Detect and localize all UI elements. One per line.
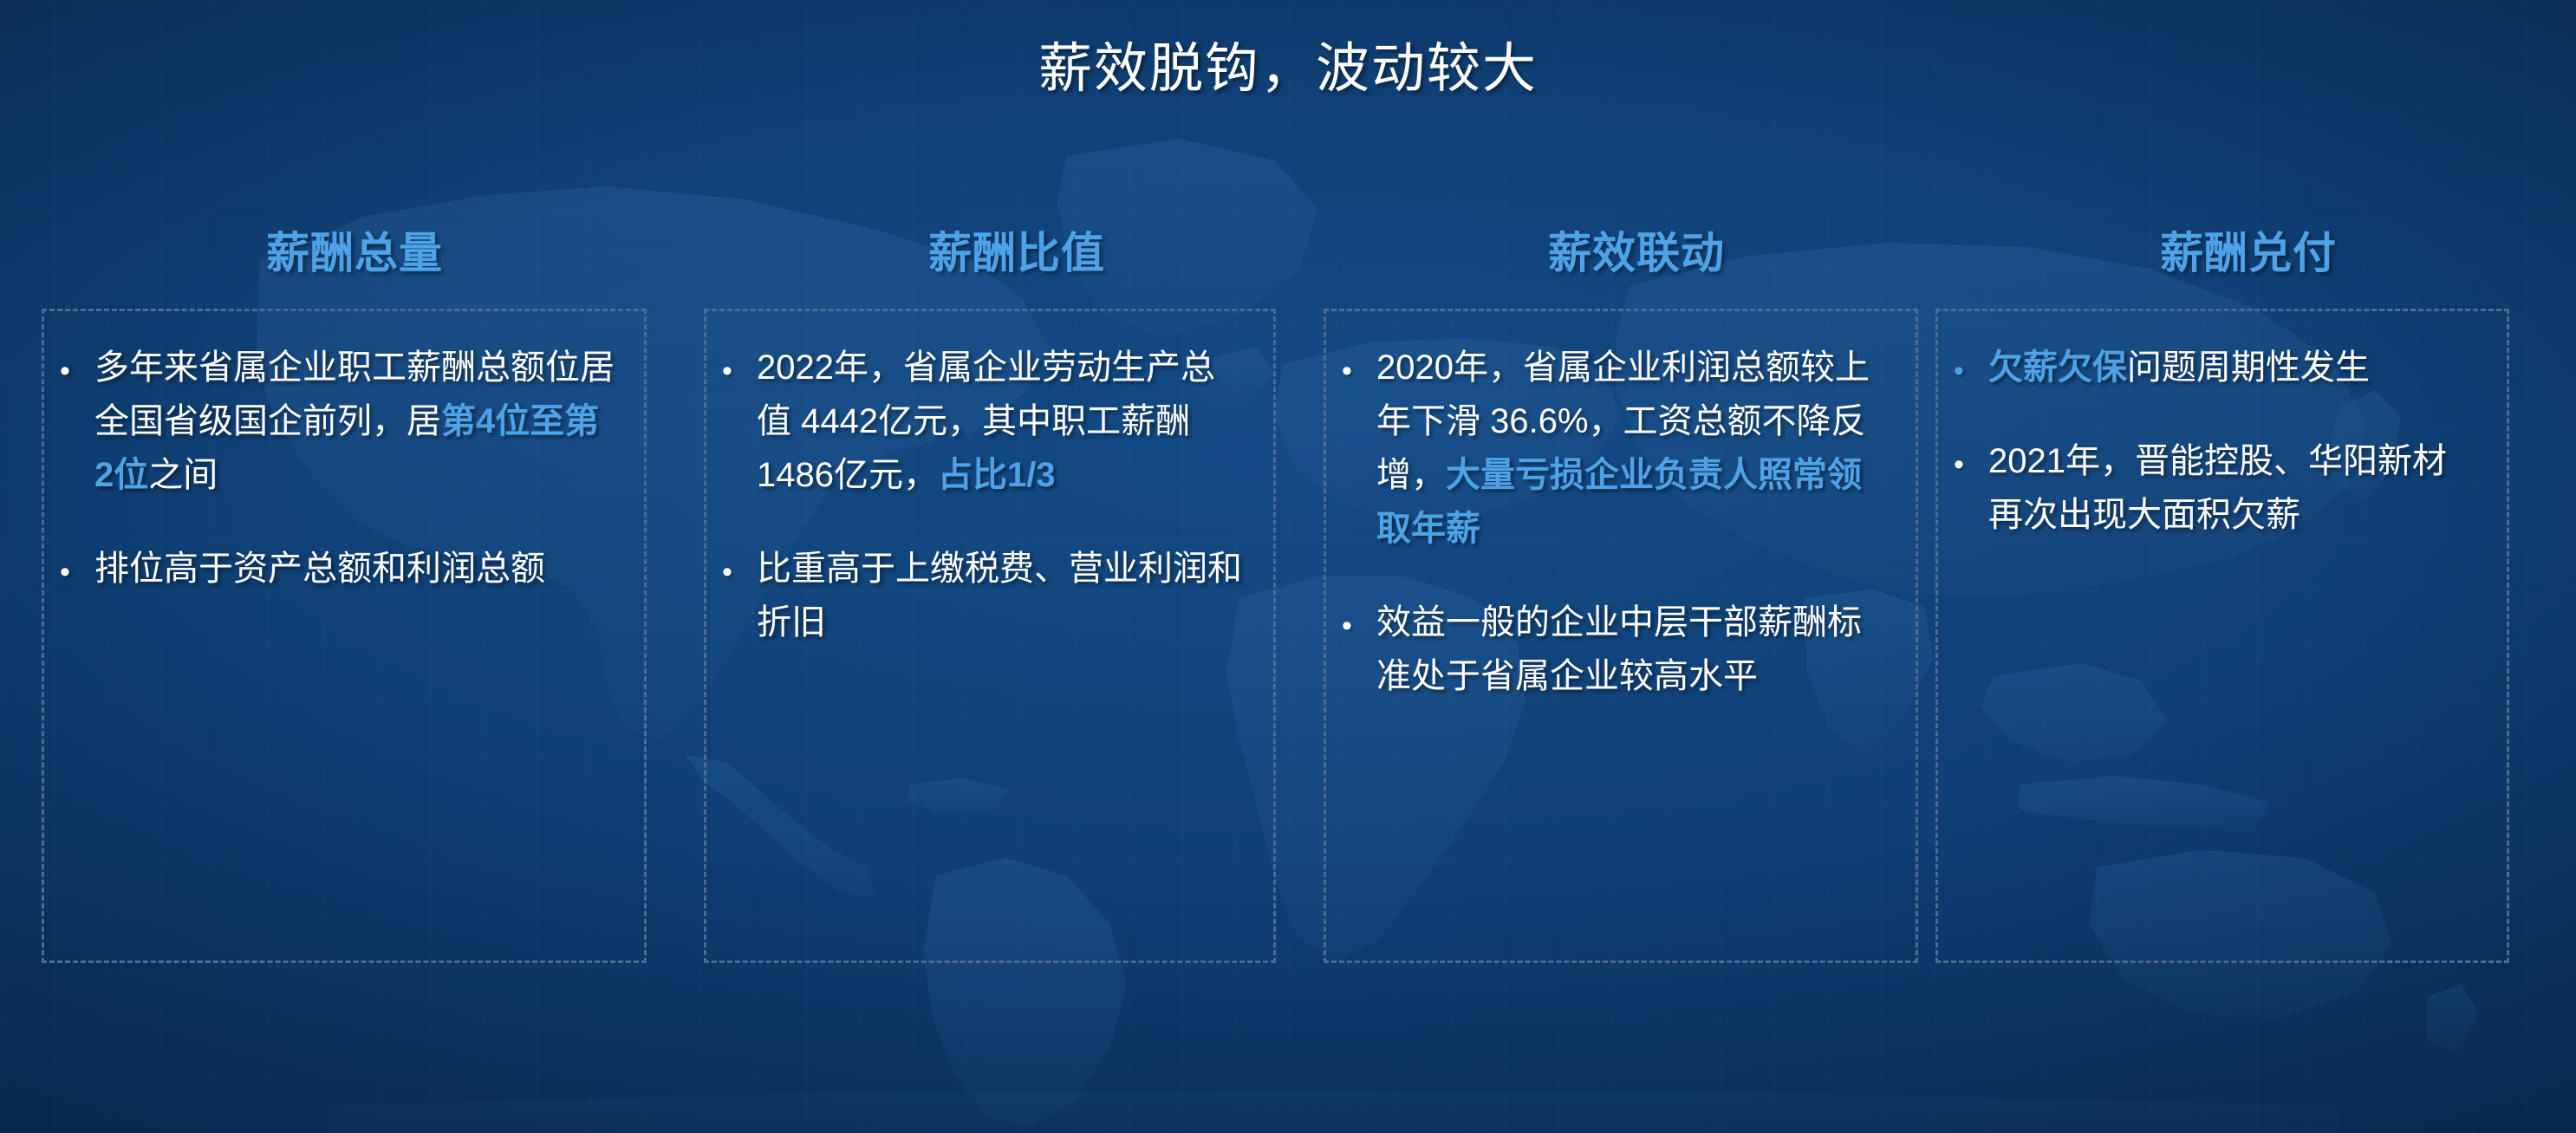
column-content-box: • 多年来省属企业职工薪酬总额位居全国省级国企前列，居第4位至第2位之间 • 排… xyxy=(42,309,647,963)
list-item-text: 比重高于上缴税费、营业利润和折旧 xyxy=(757,542,1247,649)
list-item: • 2021年，晋能控股、华阳新材再次出现大面积欠薪 xyxy=(1954,434,2481,542)
list-item-text: 多年来省属企业职工薪酬总额位居全国省级国企前列，居第4位至第2位之间 xyxy=(94,341,618,502)
bullet-icon: • xyxy=(60,341,94,386)
column-pay-performance-link: 薪效联动 • 2020年，省属企业利润总额较上年下滑 36.6%，工资总额不降反… xyxy=(1324,217,1949,963)
list-item: • 2022年，省属企业劳动生产总值 4442亿元，其中职工薪酬1486亿元，占… xyxy=(722,341,1247,502)
list-item-text: 2022年，省属企业劳动生产总值 4442亿元，其中职工薪酬1486亿元，占比1… xyxy=(757,341,1247,502)
list-item: • 2020年，省属企业利润总额较上年下滑 36.6%，工资总额不降反增，大量亏… xyxy=(1342,341,1890,556)
bullet-icon: • xyxy=(1342,341,1376,386)
list-item: • 多年来省属企业职工薪酬总额位居全国省级国企前列，居第4位至第2位之间 xyxy=(60,341,618,502)
bullet-icon: • xyxy=(1954,434,1988,479)
text-segment: 效益一般的企业中层干部薪酬标准处于省属企业较高水平 xyxy=(1376,603,1862,695)
column-content-box: • 欠薪欠保问题周期性发生 • 2021年，晋能控股、华阳新材再次出现大面积欠薪 xyxy=(1935,309,2509,963)
list-item: • 欠薪欠保问题周期性发生 xyxy=(1954,341,2481,394)
column-content-box: • 2020年，省属企业利润总额较上年下滑 36.6%，工资总额不降反增，大量亏… xyxy=(1324,309,1918,963)
column-salary-ratio: 薪酬比值 • 2022年，省属企业劳动生产总值 4442亿元，其中职工薪酬148… xyxy=(704,217,1330,963)
text-segment: 排位高于资产总额和利润总额 xyxy=(94,550,545,588)
column-salary-total: 薪酬总量 • 多年来省属企业职工薪酬总额位居全国省级国企前列，居第4位至第2位之… xyxy=(42,217,667,963)
text-segment: 之间 xyxy=(148,456,218,494)
column-salary-payment: 薪酬兑付 • 欠薪欠保问题周期性发生 • 2021年，晋能控股、华阳新材再次出现… xyxy=(1935,217,2561,963)
column-header: 薪酬总量 xyxy=(42,217,667,290)
list-item-text: 2020年，省属企业利润总额较上年下滑 36.6%，工资总额不降反增，大量亏损企… xyxy=(1376,341,1890,556)
text-segment: 2021年，晋能控股、华阳新材再次出现大面积欠薪 xyxy=(1988,442,2447,534)
list-item-text: 2021年，晋能控股、华阳新材再次出现大面积欠薪 xyxy=(1988,434,2481,542)
column-header: 薪酬兑付 xyxy=(1935,217,2561,290)
page-title: 薪效脱钩，波动较大 xyxy=(0,24,2576,102)
highlighted-text: 欠薪欠保 xyxy=(1988,348,2127,387)
list-item: • 比重高于上缴税费、营业利润和折旧 xyxy=(722,542,1247,649)
bullet-icon: • xyxy=(1954,341,1988,386)
list-item-text: 欠薪欠保问题周期性发生 xyxy=(1988,341,2481,394)
highlighted-text: 大量亏损企业负责人照常领取年薪 xyxy=(1376,456,1862,548)
bullet-icon: • xyxy=(722,542,757,587)
list-item-text: 效益一般的企业中层干部薪酬标准处于省属企业较高水平 xyxy=(1376,596,1890,703)
bullet-icon: • xyxy=(722,341,757,386)
list-item-text: 排位高于资产总额和利润总额 xyxy=(94,542,618,596)
column-content-box: • 2022年，省属企业劳动生产总值 4442亿元，其中职工薪酬1486亿元，占… xyxy=(704,309,1276,963)
column-header: 薪酬比值 xyxy=(704,217,1330,290)
list-item: • 效益一般的企业中层干部薪酬标准处于省属企业较高水平 xyxy=(1342,596,1890,703)
bullet-icon: • xyxy=(1342,596,1376,641)
bullet-icon: • xyxy=(60,542,94,587)
highlighted-text: 占比1/3 xyxy=(938,456,1056,494)
text-segment: 问题周期性发生 xyxy=(2127,348,2370,387)
text-segment: 比重高于上缴税费、营业利润和折旧 xyxy=(757,550,1242,641)
list-item: • 排位高于资产总额和利润总额 xyxy=(60,542,618,596)
column-header: 薪效联动 xyxy=(1324,217,1949,290)
